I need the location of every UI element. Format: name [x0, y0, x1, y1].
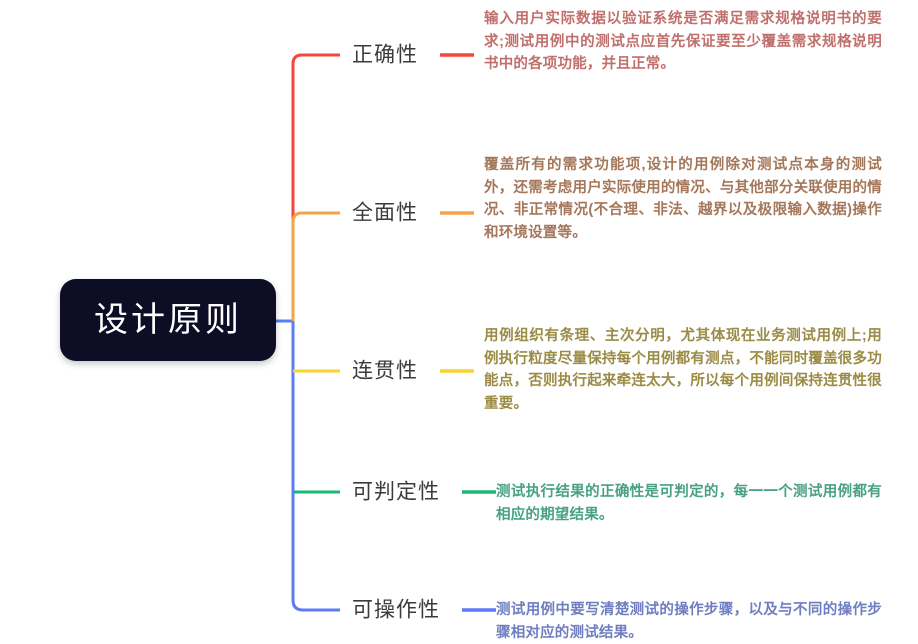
branch-label-5[interactable]: 可操作性 [352, 597, 440, 622]
branch-label-4[interactable]: 可判定性 [352, 479, 440, 504]
branch-detail-3[interactable]: 用例组织有条理、主次分明，尤其体现在业务测试用例上;用例执行粒度尽量保持每个用例… [484, 325, 882, 415]
branch-detail-5[interactable]: 测试用例中要写清楚测试的操作步骤，以及与不同的操作步骤相对应的测试结果。 [496, 599, 882, 644]
branch-label-3[interactable]: 连贯性 [352, 358, 418, 383]
branch-label-1[interactable]: 正确性 [352, 42, 418, 67]
root-node[interactable]: 设计原则 [60, 279, 276, 361]
mindmap-canvas: 设计原则 正确性 全面性 连贯性 可判定性 可操作性 输入用户实际数据以验证系统… [0, 0, 918, 644]
spine-segment-blue [293, 321, 340, 610]
branch-detail-2[interactable]: 覆盖所有的需求功能项,设计的用例除对测试点本身的测试外，还需考虑用户实际使用的情… [484, 154, 882, 244]
root-node-label: 设计原则 [94, 303, 242, 337]
branch-label-2[interactable]: 全面性 [352, 200, 418, 225]
branch-line-1 [293, 55, 340, 219]
branch-detail-4[interactable]: 测试执行结果的正确性是可判定的，每一一个测试用例都有相应的期望结果。 [496, 481, 882, 526]
branch-detail-1[interactable]: 输入用户实际数据以验证系统是否满足需求规格说明书的要求;测试用例中的测试点应首先… [484, 8, 882, 76]
branch-line-2 [293, 213, 340, 222]
